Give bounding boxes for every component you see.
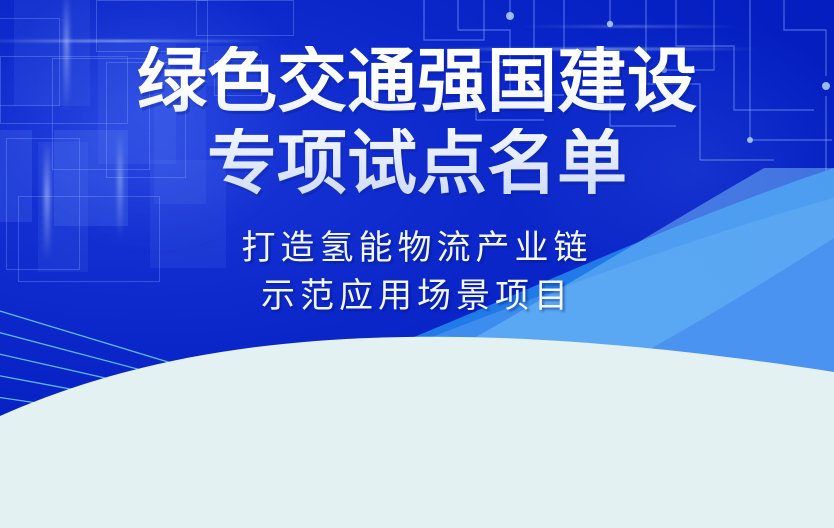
poster-text: 绿色交通强国建设 专项试点名单 打造氢能物流产业链 示范应用场景项目 [0, 0, 834, 528]
title-line-2: 专项试点名单 [207, 128, 627, 198]
subtitle-line-2: 示范应用场景项目 [242, 272, 593, 320]
title-line-1: 绿色交通强国建设 [137, 46, 697, 116]
poster-banner: 绿色交通强国建设 专项试点名单 打造氢能物流产业链 示范应用场景项目 [0, 0, 834, 528]
subtitle-block: 打造氢能物流产业链 示范应用场景项目 [242, 224, 593, 321]
subtitle-line-1: 打造氢能物流产业链 [242, 224, 593, 272]
